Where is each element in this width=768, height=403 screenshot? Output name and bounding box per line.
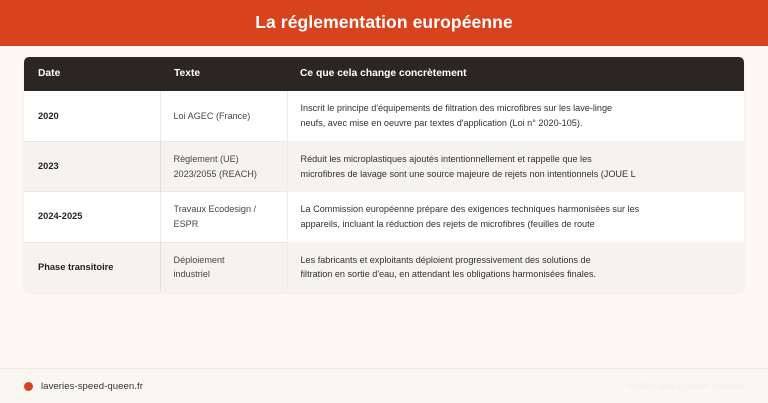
brand-dot-icon	[24, 382, 33, 391]
texte-line-2: industriel	[174, 267, 275, 282]
effect-line-2: filtration en sortie d'eau, en attendant…	[301, 267, 729, 282]
cell-texte: Loi AGEC (France)	[160, 91, 287, 141]
cell-date: 2023	[24, 141, 160, 191]
cell-effect: Réduit les microplastiques ajoutés inten…	[287, 141, 744, 191]
effect-line-1: Inscrit le principe d'équipements de fil…	[301, 101, 729, 116]
column-header-effect: Ce que cela change concrètement	[287, 57, 744, 91]
cell-texte: Travaux Ecodesign / ESPR	[160, 192, 287, 242]
table-body: 2020 Loi AGEC (France) Inscrit le princi…	[24, 91, 744, 292]
table-header: Date Texte Ce que cela change concrèteme…	[24, 57, 744, 91]
footer-brand: laveries-speed-queen.fr	[24, 381, 143, 392]
main-content: Date Texte Ce que cela change concrèteme…	[0, 46, 768, 368]
effect-line-2: appareils, incluant la réduction des rej…	[301, 217, 729, 232]
table-row: 2023 Règlement (UE) 2023/2055 (REACH) Ré…	[24, 141, 744, 191]
table-header-row: Date Texte Ce que cela change concrèteme…	[24, 57, 744, 91]
slide-page: La réglementation européenne Date Texte …	[0, 0, 768, 403]
table-row: 2024-2025 Travaux Ecodesign / ESPR La Co…	[24, 192, 744, 242]
cell-date: Phase transitoire	[24, 242, 160, 292]
slide-header-band: La réglementation européenne	[0, 0, 768, 46]
cell-texte: Règlement (UE) 2023/2055 (REACH)	[160, 141, 287, 191]
cell-texte: Déploiement industriel	[160, 242, 287, 292]
texte-line-1: Règlement (UE)	[174, 152, 275, 167]
cell-date: 2024-2025	[24, 192, 160, 242]
texte-line-1: Déploiement	[174, 253, 275, 268]
footer-copyright: © 2025 Speed Queen Toulouse	[627, 382, 744, 391]
effect-line-1: Les fabricants et exploitants déploient …	[301, 253, 729, 268]
column-header-texte: Texte	[160, 57, 287, 91]
cell-effect: Inscrit le principe d'équipements de fil…	[287, 91, 744, 141]
cell-effect: La Commission européenne prépare des exi…	[287, 192, 744, 242]
effect-line-1: Réduit les microplastiques ajoutés inten…	[301, 152, 729, 167]
table-row: Phase transitoire Déploiement industriel…	[24, 242, 744, 292]
effect-line-2: neufs, avec mise en oeuvre par textes d'…	[301, 116, 729, 131]
texte-line-1: Loi AGEC (France)	[174, 109, 275, 124]
table-row: 2020 Loi AGEC (France) Inscrit le princi…	[24, 91, 744, 141]
effect-line-2: microfibres de lavage sont une source ma…	[301, 167, 729, 182]
cell-date: 2020	[24, 91, 160, 141]
footer-website: laveries-speed-queen.fr	[41, 381, 143, 392]
slide-footer: laveries-speed-queen.fr © 2025 Speed Que…	[0, 368, 768, 403]
texte-line-2: ESPR	[174, 217, 275, 232]
regulation-table: Date Texte Ce que cela change concrèteme…	[24, 57, 744, 292]
effect-line-1: La Commission européenne prépare des exi…	[301, 202, 729, 217]
texte-line-1: Travaux Ecodesign /	[174, 202, 275, 217]
regulation-table-card: Date Texte Ce que cela change concrèteme…	[24, 57, 744, 292]
page-title: La réglementation européenne	[255, 14, 513, 32]
column-header-date: Date	[24, 57, 160, 91]
cell-effect: Les fabricants et exploitants déploient …	[287, 242, 744, 292]
texte-line-2: 2023/2055 (REACH)	[174, 167, 275, 182]
